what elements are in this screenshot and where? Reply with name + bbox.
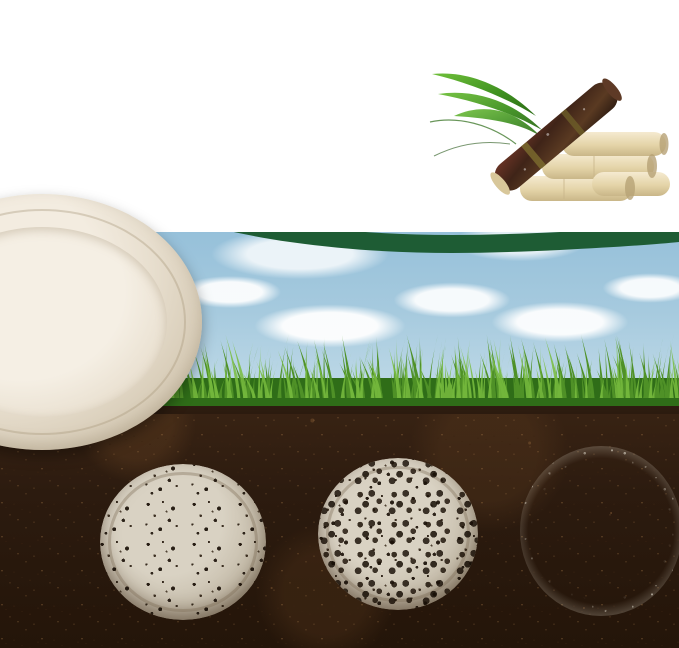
decomposition-stage-1 — [100, 464, 266, 620]
soil-edge-crumbs — [318, 458, 478, 610]
product-infographic: Plate lightly covered with soil Plate he… — [0, 0, 679, 648]
decomposition-stage-3 — [520, 446, 679, 616]
decomposition-stage-2 — [318, 458, 478, 610]
sugarcane-stalks-image — [424, 60, 674, 220]
plate-remnant-specks — [520, 446, 679, 616]
soil-edge-crumbs — [100, 464, 266, 620]
